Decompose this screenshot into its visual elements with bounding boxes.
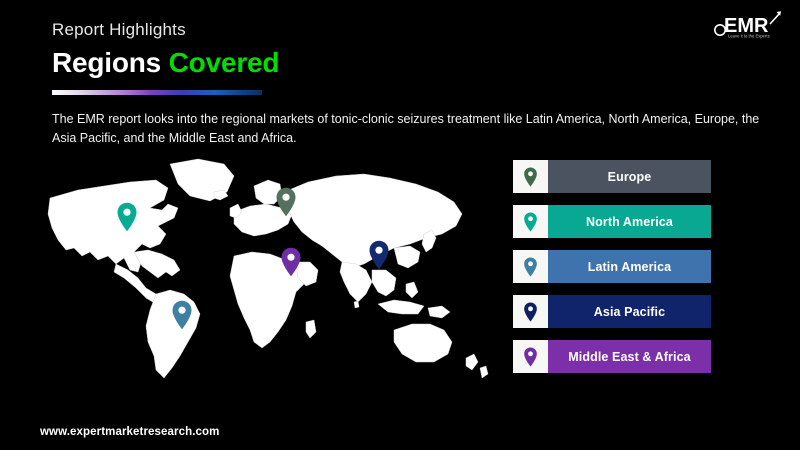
map-pin-north-america[interactable] bbox=[116, 202, 138, 232]
region-row-asia-pacific[interactable]: Asia Pacific bbox=[513, 295, 711, 328]
map-pin-icon bbox=[523, 212, 538, 232]
region-label-europe: Europe bbox=[548, 160, 711, 193]
page-title-part-2: Covered bbox=[169, 47, 280, 78]
world-map bbox=[38, 152, 508, 397]
region-row-europe[interactable]: Europe bbox=[513, 160, 711, 193]
region-pin-box-middle-east-africa bbox=[513, 340, 548, 373]
svg-text:Leave it to the Experts: Leave it to the Experts bbox=[728, 34, 770, 39]
map-pin-icon bbox=[523, 257, 538, 277]
region-label-north-america: North America bbox=[548, 205, 711, 238]
region-row-latin-america[interactable]: Latin America bbox=[513, 250, 711, 283]
region-pin-box-asia-pacific bbox=[513, 295, 548, 328]
region-pin-box-latin-america bbox=[513, 250, 548, 283]
map-pin-icon bbox=[523, 167, 538, 187]
map-pin-icon bbox=[523, 347, 538, 367]
page-title: Regions Covered bbox=[52, 47, 279, 79]
region-label-latin-america: Latin America bbox=[548, 250, 711, 283]
region-list: Europe North America Latin America bbox=[513, 160, 711, 385]
map-pin-asia-pacific[interactable] bbox=[368, 240, 390, 270]
logo-arrow-icon bbox=[770, 11, 781, 24]
slide-root: Report Highlights Regions Covered The EM… bbox=[0, 0, 800, 450]
gradient-divider bbox=[52, 90, 262, 95]
report-highlights-kicker: Report Highlights bbox=[52, 20, 186, 40]
region-label-asia-pacific: Asia Pacific bbox=[548, 295, 711, 328]
region-label-middle-east-africa: Middle East & Africa bbox=[548, 340, 711, 373]
emr-logo: EMR Leave it to the Experts bbox=[706, 8, 784, 40]
map-pin-middle-east-africa[interactable] bbox=[280, 247, 302, 277]
region-pin-box-north-america bbox=[513, 205, 548, 238]
region-row-north-america[interactable]: North America bbox=[513, 205, 711, 238]
page-title-part-1: Regions bbox=[52, 47, 161, 78]
map-pin-europe[interactable] bbox=[275, 187, 297, 217]
region-row-middle-east-africa[interactable]: Middle East & Africa bbox=[513, 340, 711, 373]
map-pin-icon bbox=[523, 302, 538, 322]
footer-url[interactable]: www.expertmarketresearch.com bbox=[40, 426, 219, 438]
intro-paragraph: The EMR report looks into the regional m… bbox=[52, 110, 762, 148]
region-pin-box-europe bbox=[513, 160, 548, 193]
map-pin-latin-america[interactable] bbox=[171, 300, 193, 330]
